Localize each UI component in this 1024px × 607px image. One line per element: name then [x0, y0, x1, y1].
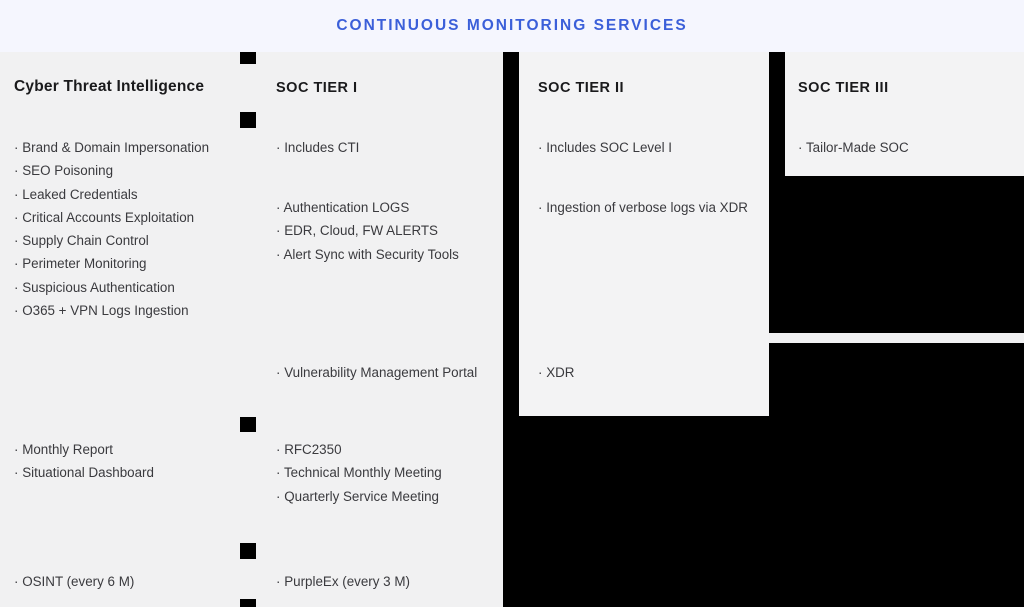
column-heading-cyber-threat-intelligence: Cyber Threat Intelligence: [14, 78, 204, 96]
bullet-dot-icon: ·: [276, 465, 280, 480]
bullet-dot-icon: ·: [14, 465, 18, 480]
page-title: CONTINUOUS MONITORING SERVICES: [0, 17, 1024, 35]
list-item: · Situational Dashboard: [14, 461, 242, 484]
list-item: · XDR: [538, 361, 754, 384]
list-item-label: Vulnerability Management Portal: [284, 365, 477, 380]
bullet-group-tier1-periodic: · PurpleEx (every 3 M): [276, 570, 492, 593]
list-item: · Authentication LOGS: [276, 196, 492, 219]
list-item: · OSINT (every 6 M): [14, 570, 242, 593]
list-item: · Critical Accounts Exploitation: [14, 206, 242, 229]
bullet-dot-icon: ·: [276, 140, 280, 155]
list-item: · Quarterly Service Meeting: [276, 485, 492, 508]
bullet-dot-icon: ·: [14, 187, 18, 202]
bullet-group-tier1-includes: · Includes CTI: [276, 136, 492, 159]
separator-bar-col2-col3: [503, 52, 519, 416]
right-black-field-upper: [768, 176, 1024, 333]
list-item: · Includes SOC Level I: [538, 136, 754, 159]
column-heading-soc-tier-ii: SOC TIER II: [538, 80, 624, 96]
list-item-label: Supply Chain Control: [22, 233, 149, 248]
bullet-dot-icon: ·: [14, 442, 18, 457]
bullet-group-cti-periodic: · OSINT (every 6 M): [14, 570, 242, 593]
bullet-group-tier1-portal: · Vulnerability Management Portal: [276, 361, 492, 384]
list-item-label: Brand & Domain Impersonation: [22, 140, 209, 155]
list-item: · Technical Monthly Meeting: [276, 461, 492, 484]
list-item: · SEO Poisoning: [14, 159, 242, 182]
list-item-label: Leaked Credentials: [22, 187, 137, 202]
bullet-dot-icon: ·: [14, 233, 18, 248]
list-item-label: XDR: [546, 365, 574, 380]
list-item-label: Technical Monthly Meeting: [284, 465, 442, 480]
list-item-label: Perimeter Monitoring: [22, 256, 146, 271]
bullet-dot-icon: ·: [276, 223, 280, 238]
list-item-label: Critical Accounts Exploitation: [22, 210, 194, 225]
bullet-dot-icon: ·: [538, 200, 542, 215]
bullet-dot-icon: ·: [14, 280, 18, 295]
right-black-field-lower: [768, 343, 1024, 607]
bullet-dot-icon: ·: [276, 442, 280, 457]
separator-dash-1: [240, 52, 256, 64]
bullet-group-cti-capabilities: · Brand & Domain Impersonation · SEO Poi…: [14, 136, 242, 322]
list-item-label: Alert Sync with Security Tools: [283, 247, 458, 262]
list-item-label: Includes SOC Level I: [546, 140, 672, 155]
separator-dash-2: [240, 112, 256, 128]
list-item-label: Monthly Report: [22, 442, 113, 457]
bullet-group-tier2-ingestion: · Ingestion of verbose logs via XDR: [538, 196, 754, 219]
separator-dash-4: [240, 543, 256, 559]
list-item: · EDR, Cloud, FW ALERTS: [276, 219, 492, 242]
list-item-label: Ingestion of verbose logs via XDR: [546, 200, 748, 215]
list-item-label: Quarterly Service Meeting: [284, 489, 439, 504]
bullet-group-tier2-xdr: · XDR: [538, 361, 754, 384]
list-item: · O365 + VPN Logs Ingestion: [14, 299, 242, 322]
bullet-dot-icon: ·: [538, 140, 542, 155]
bullet-group-cti-reporting: · Monthly Report · Situational Dashboard: [14, 438, 242, 485]
slide-canvas: CONTINUOUS MONITORING SERVICES Cyber Thr…: [0, 0, 1024, 607]
bullet-dot-icon: ·: [14, 256, 18, 271]
bullet-dot-icon: ·: [14, 163, 18, 178]
list-item: · Suspicious Authentication: [14, 276, 242, 299]
bullet-dot-icon: ·: [14, 303, 18, 318]
bullet-dot-icon: ·: [276, 489, 280, 504]
title-band: CONTINUOUS MONITORING SERVICES: [0, 0, 1024, 52]
bullet-dot-icon: ·: [538, 365, 542, 380]
list-item: · Tailor-Made SOC: [798, 136, 1014, 159]
separator-dash-5: [240, 599, 256, 607]
separator-bar-col3-col4: [768, 52, 785, 176]
bullet-dot-icon: ·: [14, 210, 18, 225]
list-item: · RFC2350: [276, 438, 492, 461]
list-item: · Monthly Report: [14, 438, 242, 461]
bullet-dot-icon: ·: [276, 365, 280, 380]
list-item: · Brand & Domain Impersonation: [14, 136, 242, 159]
column-heading-soc-tier-iii: SOC TIER III: [798, 80, 889, 96]
bullet-group-tier2-includes: · Includes SOC Level I: [538, 136, 754, 159]
list-item-label: PurpleEx (every 3 M): [284, 574, 410, 589]
list-item: · Leaked Credentials: [14, 183, 242, 206]
bullet-dot-icon: ·: [276, 247, 280, 262]
list-item-label: EDR, Cloud, FW ALERTS: [284, 223, 438, 238]
list-item: · Includes CTI: [276, 136, 492, 159]
bullet-dot-icon: ·: [276, 574, 280, 589]
column-heading-soc-tier-i: SOC TIER I: [276, 80, 358, 96]
list-item-label: SEO Poisoning: [22, 163, 113, 178]
bullet-group-tier1-reporting: · RFC2350 · Technical Monthly Meeting · …: [276, 438, 492, 508]
list-item-label: Suspicious Authentication: [22, 280, 175, 295]
list-item-label: Situational Dashboard: [22, 465, 154, 480]
bullet-group-tier1-monitoring: · Authentication LOGS · EDR, Cloud, FW A…: [276, 196, 492, 266]
list-item: · PurpleEx (every 3 M): [276, 570, 492, 593]
list-item-label: Authentication LOGS: [283, 200, 409, 215]
bullet-dot-icon: ·: [798, 140, 802, 155]
list-item: · Ingestion of verbose logs via XDR: [538, 196, 754, 219]
bullet-dot-icon: ·: [276, 200, 280, 215]
bullet-dot-icon: ·: [14, 574, 18, 589]
list-item: · Alert Sync with Security Tools: [276, 243, 492, 266]
bullet-group-tier3-custom: · Tailor-Made SOC: [798, 136, 1014, 159]
list-item: · Vulnerability Management Portal: [276, 361, 492, 384]
separator-dash-3: [240, 417, 256, 432]
list-item-label: RFC2350: [284, 442, 341, 457]
list-item-label: O365 + VPN Logs Ingestion: [22, 303, 188, 318]
bullet-dot-icon: ·: [14, 140, 18, 155]
list-item: · Supply Chain Control: [14, 229, 242, 252]
list-item: · Perimeter Monitoring: [14, 252, 242, 275]
list-item-label: Tailor-Made SOC: [806, 140, 909, 155]
list-item-label: Includes CTI: [284, 140, 359, 155]
list-item-label: OSINT (every 6 M): [22, 574, 134, 589]
